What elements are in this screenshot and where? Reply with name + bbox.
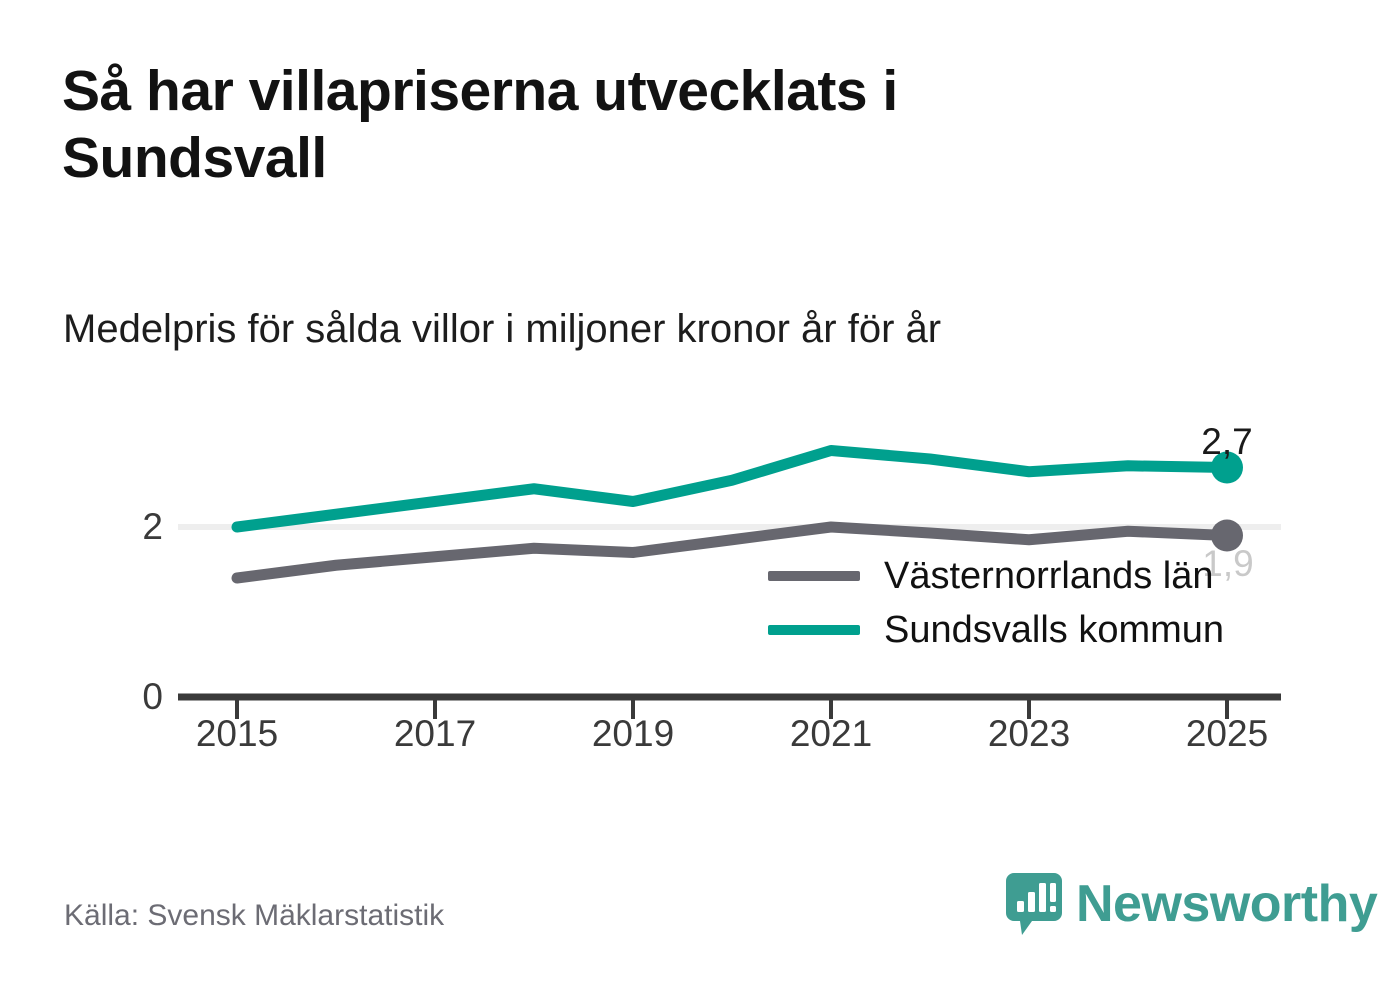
chart-subtitle: Medelpris för sålda villor i miljoner kr… — [63, 305, 1263, 353]
brand-wordmark: Newsworthy — [1076, 878, 1377, 930]
y-axis-tick-label: 2 — [103, 506, 163, 548]
legend-item-sundsvalls-kommun[interactable]: Sundsvalls kommun — [768, 611, 1224, 649]
chart-card: Så har villapriserna utvecklats i Sundsv… — [0, 0, 1382, 999]
newsworthy-logo[interactable]: Newsworthy — [1006, 873, 1377, 935]
x-axis-tick-label: 2015 — [196, 713, 278, 755]
y-axis-tick-label: 0 — [103, 676, 163, 718]
source-note: Källa: Svensk Mäklarstatistik — [64, 899, 444, 933]
end-value-sundsvall: 2,7 — [1201, 421, 1252, 463]
legend-color-swatch-teal — [768, 625, 860, 635]
x-axis-tick-label: 2025 — [1186, 713, 1268, 755]
x-axis-tick-label: 2017 — [394, 713, 476, 755]
legend-label: Sundsvalls kommun — [884, 611, 1224, 649]
x-axis-tick-label: 2019 — [592, 713, 674, 755]
page-title: Så har villapriserna utvecklats i Sundsv… — [62, 58, 1122, 191]
x-axis-tick-label: 2021 — [790, 713, 872, 755]
axis-group — [178, 697, 1281, 719]
legend-item-vasternorrlands-lan[interactable]: Västernorrlands län — [768, 557, 1224, 595]
series-line-sundsvalls-kommun — [237, 451, 1227, 528]
x-axis-tick-label: 2023 — [988, 713, 1070, 755]
legend-color-swatch-gray — [768, 571, 860, 581]
legend-label: Västernorrlands län — [884, 557, 1214, 595]
chart-legend: Västernorrlands län Sundsvalls kommun — [768, 557, 1224, 649]
bar-chart-speech-bubble-icon — [1006, 873, 1062, 935]
